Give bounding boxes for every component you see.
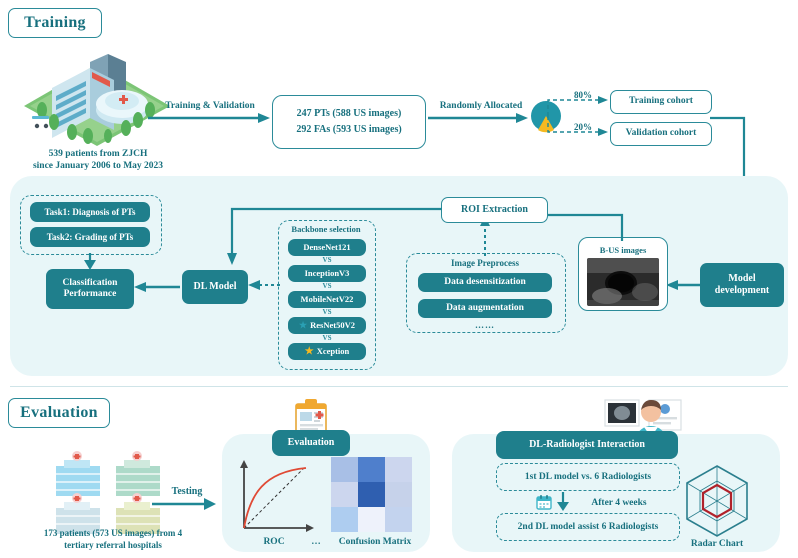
preprocess-ellipsis: ……	[406, 320, 564, 332]
cohort-counts-line2: 292 FAs (593 US images)	[296, 124, 401, 137]
roc-label: ROC	[246, 536, 302, 548]
section-title-training: Training	[8, 8, 102, 38]
testing-source-line2: tertiary referral hospitals	[18, 540, 208, 552]
evaluation-chip: Evaluation	[272, 430, 350, 456]
backbone-model-resnet50v2-label: ResNet50V2	[310, 320, 355, 330]
arrow-backbone-to-dlmodel	[248, 279, 280, 291]
backbone-model-xception: ★ Xception	[288, 343, 366, 360]
backbone-vs-3: VS	[288, 308, 366, 316]
training-source-line2: since January 2006 to May 2023	[8, 160, 188, 172]
roc-chart	[234, 458, 318, 534]
dl-model-box: DL Model	[182, 270, 248, 304]
classification-performance-label: Classification Performance	[63, 278, 118, 301]
confusion-matrix-heatmap	[331, 457, 412, 532]
arrow-training-validation	[148, 112, 270, 124]
task1-box: Task1: Diagnosis of PTs	[30, 202, 150, 222]
split-connector-lines	[546, 96, 612, 136]
interaction-step2-box: 2nd DL model assist 6 Radiologists	[496, 513, 680, 541]
model-development-box: Model development	[700, 263, 784, 307]
arrow-tasks-to-classification	[83, 253, 97, 271]
classification-performance-box: Classification Performance	[46, 269, 134, 309]
section-title-evaluation: Evaluation	[8, 398, 110, 428]
ultrasound-image	[587, 258, 659, 306]
backbone-model-inceptionv3: InceptionV3	[288, 265, 366, 282]
backbone-model-densenet121: DenseNet121	[288, 239, 366, 256]
model-development-label: Model development	[715, 273, 769, 297]
arrow-randomly-allocated	[428, 112, 528, 124]
roi-extraction-box: ROI Extraction	[441, 197, 548, 223]
arrow-dlmodel-to-classification	[134, 281, 180, 293]
section-divider	[10, 386, 788, 387]
backbone-model-mobilenetv22: MobileNetV22	[288, 291, 366, 308]
cohort-counts-box: 247 PTs (588 US images) 292 FAs (593 US …	[272, 95, 426, 149]
bus-images-card: B-US images	[578, 237, 668, 311]
star-icon-teal: ★	[299, 320, 307, 331]
confusion-matrix-label: Confusion Matrix	[325, 536, 425, 548]
arrow-testing	[152, 498, 216, 510]
backbone-model-resnet50v2: ★ ResNet50V2	[288, 317, 366, 334]
calendar-icon	[536, 494, 552, 510]
backbone-model-xception-label: Xception	[317, 346, 350, 356]
backbone-vs-1: VS	[288, 256, 366, 264]
cohort-counts-line1: 247 PTs (588 US images)	[297, 108, 402, 121]
arrow-label-training-validation: Training & Validation	[150, 100, 270, 112]
hospital-building-icon	[22, 48, 172, 148]
training-source-caption: 539 patients from ZJCH since January 200…	[8, 148, 188, 173]
star-icon-gold: ★	[305, 346, 314, 358]
preprocess-item-desensitization: Data desensitization	[418, 273, 552, 292]
task2-box: Task2: Grading of PTs	[30, 227, 150, 247]
interaction-step1-box: 1st DL model vs. 6 Radiologists	[496, 463, 680, 491]
preprocess-item-augmentation: Data augmentation	[418, 299, 552, 318]
interaction-chip: DL-Radiologist Interaction	[496, 431, 678, 459]
arrow-label-randomly-allocated: Randomly Allocated	[428, 100, 534, 112]
bus-images-label: B-US images	[600, 245, 647, 256]
arrow-label-testing: Testing	[158, 485, 216, 498]
testing-source-line1: 173 patients (573 US images) from 4	[18, 528, 208, 540]
radar-chart	[678, 462, 756, 540]
training-source-line1: 539 patients from ZJCH	[8, 148, 188, 160]
validation-cohort-box: Validation cohort	[610, 122, 712, 146]
radar-chart-label: Radar Chart	[674, 538, 760, 550]
backbone-selection-title: Backbone selection	[278, 224, 374, 235]
training-cohort-box: Training cohort	[610, 90, 712, 114]
interaction-interval-label: After 4 weeks	[576, 497, 662, 509]
backbone-vs-2: VS	[288, 282, 366, 290]
backbone-vs-4: VS	[288, 334, 366, 342]
arrow-modeldev-to-bus	[666, 279, 700, 291]
testing-source-caption: 173 patients (573 US images) from 4 tert…	[18, 528, 208, 551]
arrow-after-4-weeks	[556, 492, 570, 512]
